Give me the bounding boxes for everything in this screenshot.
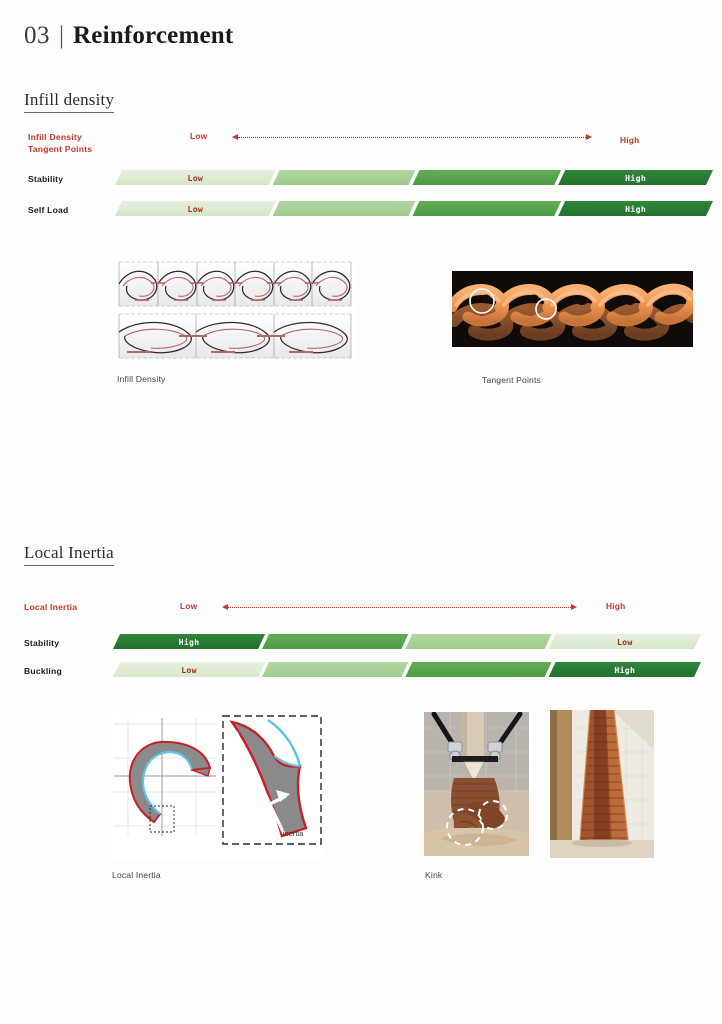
page-title-number: 03 [24,22,50,50]
row-label-infill-density-driver: Infill Density Tangent Points [28,132,92,155]
bar-segment-1: High [113,634,265,649]
bar-segment-4: High [549,662,701,677]
page-title-separator: | [59,22,64,50]
bar-segment-3 [412,201,561,216]
bar-segment-4: High [558,170,713,185]
bar-segment-label-high: High [625,204,646,214]
bar-segment-label-low: Low [187,173,203,183]
arrow-head-right-icon [571,604,577,610]
bar-segment-4: High [558,201,713,216]
bar-segment-label-low: Low [181,665,197,675]
scale-word-low-inertia: Low [180,601,197,611]
figure-local-inertia-diagram: inertia [110,710,325,860]
bar-segment-label-low: Low [187,204,203,214]
bar-segment-2 [262,662,408,677]
arrow-line [228,607,571,608]
bar-segment-label-low: Low [617,637,633,647]
figure-infill-pattern [115,258,355,360]
figure-caption-tangent-points: Tangent Points [482,375,541,385]
clay-column-photo [550,710,654,858]
bar-buckling: Low High [113,662,698,677]
page-title-text: Reinforcement [73,22,233,50]
bar-segment-label-high: High [625,173,646,183]
bar-stability-inertia: High Low [113,634,698,649]
row-label-buckling: Buckling [24,666,62,678]
detail-label-inertia: inertia [283,829,304,838]
bar-segment-3 [405,634,551,649]
row-label-self-load: Self Load [28,205,68,217]
scale-word-high-inertia: High [606,601,625,611]
figure-caption-infill-density: Infill Density [117,374,165,384]
bar-segment-2 [262,634,408,649]
figure-caption-local-inertia: Local Inertia [112,870,161,880]
inertia-section-diagram: inertia [110,710,325,860]
bar-segment-3 [412,170,561,185]
row-label-stability-infill: Stability [28,174,63,186]
bar-segment-2 [273,201,416,216]
bar-segment-1: Low [113,662,265,677]
bar-segment-3 [405,662,551,677]
bar-stability-infill: Low High [115,170,710,185]
page-title: 03 | Reinforcement [24,22,233,50]
bar-segment-4: Low [549,634,701,649]
clay-printer-photo [424,712,529,856]
infill-pattern-diagram [115,258,355,360]
scale-word-high-infill: High [620,135,639,145]
arrow-head-right-icon [586,134,592,140]
bar-segment-2 [273,170,416,185]
row-label-local-inertia-driver: Local Inertia [24,602,77,614]
arrow-line [238,137,586,138]
orange-print-photo [452,271,693,347]
figure-tangent-points-photo [452,271,693,347]
bar-segment-label-high: High [179,637,200,647]
row-label-stability-inertia: Stability [24,638,59,650]
slide-page: 03 | Reinforcement Infill density Infill… [0,0,722,1024]
bar-self-load: Low High [115,201,710,216]
figure-kink-photo-column [550,710,654,858]
figure-caption-kink: Kink [425,870,442,880]
bar-segment-1: Low [115,170,276,185]
bar-segment-label-high: High [614,665,635,675]
driver-arrow-infill [232,133,592,143]
driver-arrow-inertia [222,603,577,613]
figure-kink-photo-printer [424,712,529,856]
bar-segment-1: Low [115,201,276,216]
section-heading-local-inertia: Local Inertia [24,543,114,566]
section-heading-infill-density: Infill density [24,90,114,113]
scale-word-low-infill: Low [190,131,207,141]
